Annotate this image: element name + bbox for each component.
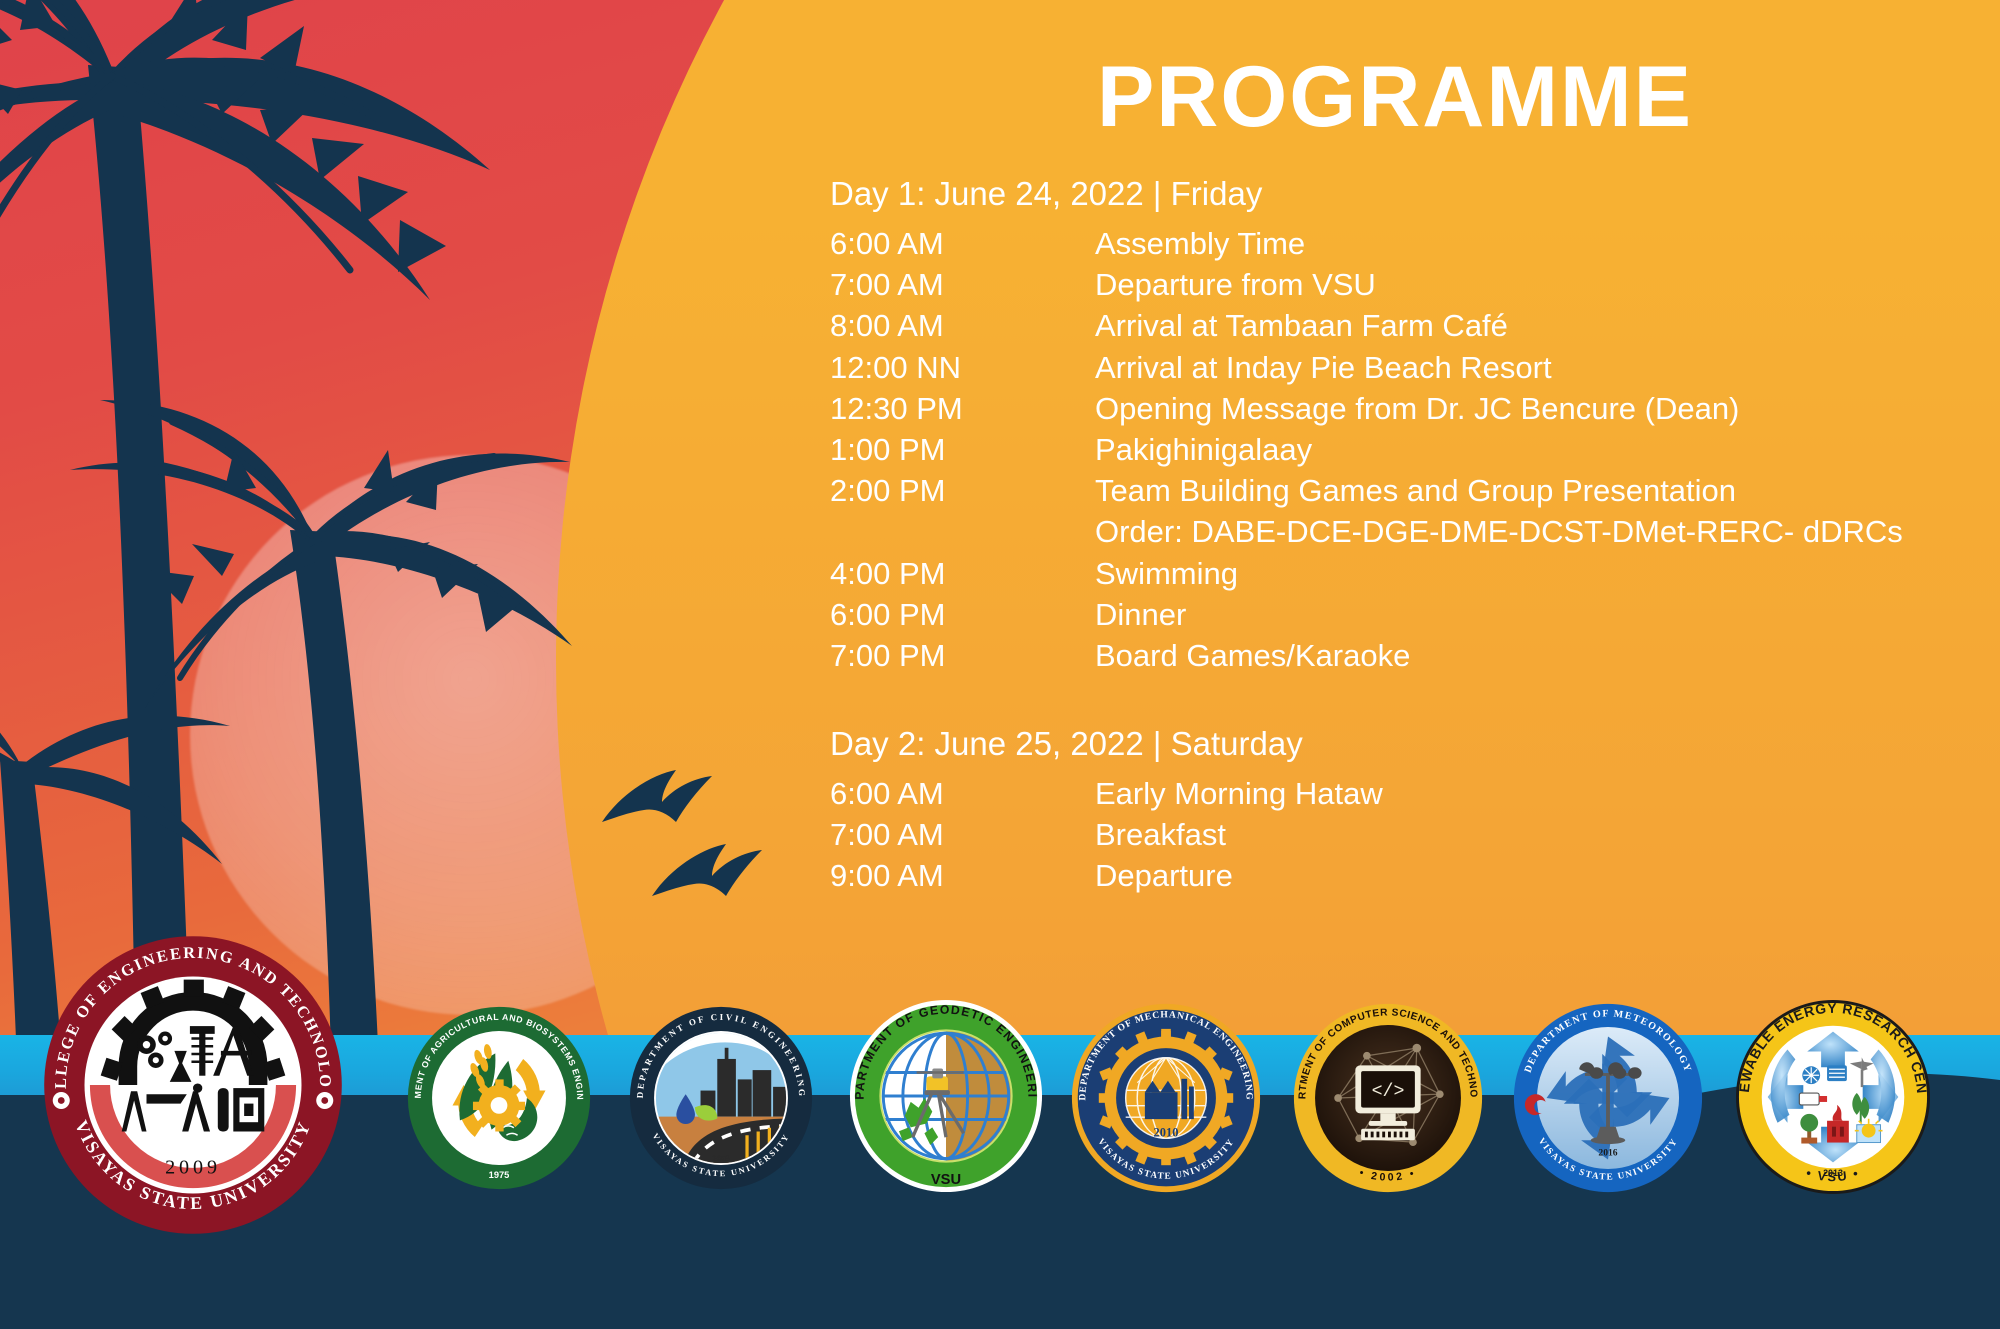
schedule-time: 12:00 NN (830, 347, 1095, 388)
schedule-activity: Dinner (1095, 594, 1186, 635)
logo-dcst: </> DEPARTMENT OF COMPUTER SCIENCE AND T… (1292, 1002, 1484, 1194)
schedule-row: 12:00 NN Arrival at Inday Pie Beach Reso… (830, 347, 1960, 388)
day-block-2: Day 2: June 25, 2022 | Saturday 6:00 AM … (830, 722, 1960, 896)
schedule-row: 12:30 PM Opening Message from Dr. JC Ben… (830, 388, 1960, 429)
logo-dme-year: 2010 (1154, 1125, 1179, 1139)
schedule-time: 1:00 PM (830, 429, 1095, 470)
schedule-row: 6:00 PM Dinner (830, 594, 1960, 635)
schedule-time: 2:00 PM (830, 470, 1095, 511)
logo-dmet-year: 2016 (1598, 1148, 1617, 1159)
schedule-row: 1:00 PM Pakighinigalaay (830, 429, 1960, 470)
schedule-row: 7:00 AM Departure from VSU (830, 264, 1960, 305)
bird-silhouettes (600, 770, 780, 910)
schedule-activity: Departure (1095, 855, 1233, 896)
schedule-time: 12:30 PM (830, 388, 1095, 429)
schedule-activity: Swimming (1095, 553, 1238, 594)
schedule-row-continuation: Order: DABE-DCE-DGE-DME-DCST-DMet-RERC- … (830, 511, 1960, 552)
palm-tree-silhouettes (0, 0, 860, 1090)
day-2-schedule: 6:00 AM Early Morning Hataw 7:00 AM Brea… (830, 773, 1960, 897)
schedule-activity: Opening Message from Dr. JC Bencure (Dea… (1095, 388, 1739, 429)
schedule-time: 9:00 AM (830, 855, 1095, 896)
logo-dge-bottom-text: VSU (931, 1172, 961, 1188)
logo-rerc: RENEWABLE ENERGY RESEARCH CENTER • VSU •… (1734, 998, 1932, 1196)
schedule-activity: Arrival at Inday Pie Beach Resort (1095, 347, 1552, 388)
schedule-activity: Pakighinigalaay (1095, 429, 1312, 470)
section-spacer (830, 676, 1960, 722)
logo-dcst-code-glyph: </> (1372, 1082, 1405, 1102)
schedule-time: 7:00 PM (830, 635, 1095, 676)
schedule-time: 6:00 PM (830, 594, 1095, 635)
schedule-row: 9:00 AM Departure (830, 855, 1960, 896)
schedule-activity: Board Games/Karaoke (1095, 635, 1410, 676)
schedule-time: 8:00 AM (830, 305, 1095, 346)
day-block-1: Day 1: June 24, 2022 | Friday 6:00 AM As… (830, 172, 1960, 676)
logo-rerc-year: 2013 (1823, 1168, 1843, 1178)
schedule-row: 7:00 AM Breakfast (830, 814, 1960, 855)
schedule-row: 8:00 AM Arrival at Tambaan Farm Café (830, 305, 1960, 346)
schedule-activity: Assembly Time (1095, 223, 1305, 264)
day-1-heading: Day 1: June 24, 2022 | Friday (830, 172, 1960, 217)
page-title: PROGRAMME (830, 52, 1960, 142)
schedule-time: 6:00 AM (830, 773, 1095, 814)
schedule-activity: Breakfast (1095, 814, 1226, 855)
logo-cet-year: 2009 (165, 1156, 221, 1178)
logo-dabe: DEPARTMENT OF AGRICULTURAL AND BIOSYSTEM… (406, 1005, 592, 1191)
logo-dce-year: 2009 (712, 1153, 730, 1163)
programme-poster: PROGRAMME Day 1: June 24, 2022 | Friday … (0, 0, 2000, 1329)
schedule-time: 7:00 AM (830, 264, 1095, 305)
schedule-time: 6:00 AM (830, 223, 1095, 264)
schedule-row: 7:00 PM Board Games/Karaoke (830, 635, 1960, 676)
schedule-row: 2:00 PM Team Building Games and Group Pr… (830, 470, 1960, 511)
schedule-row: 4:00 PM Swimming (830, 553, 1960, 594)
logo-dge: DEPARTMENT OF GEODETIC ENGINEERING VSU (848, 998, 1044, 1194)
schedule-activity: Early Morning Hataw (1095, 773, 1383, 814)
logo-dme: 2010 DEPARTMENT OF MECHANICAL ENGINEERIN… (1070, 1002, 1262, 1194)
day-2-heading: Day 2: June 25, 2022 | Saturday (830, 722, 1960, 767)
schedule-activity: Departure from VSU (1095, 264, 1376, 305)
schedule-time: 7:00 AM (830, 814, 1095, 855)
schedule-row: 6:00 AM Early Morning Hataw (830, 773, 1960, 814)
logo-dce: DEPARTMENT OF CIVIL ENGINEERING VISAYAS … (628, 1005, 814, 1191)
logo-cet: COLLEGE OF ENGINEERING AND TECHNOLOGY VI… (38, 930, 348, 1240)
programme-content: PROGRAMME Day 1: June 24, 2022 | Friday … (830, 52, 1960, 896)
department-logo-strip: COLLEGE OF ENGINEERING AND TECHNOLOGY VI… (0, 940, 2000, 1329)
logo-dmet: DEPARTMENT OF METEOROLOGY VISAYAS STATE … (1512, 1002, 1704, 1194)
day-1-schedule: 6:00 AM Assembly Time 7:00 AM Departure … (830, 223, 1960, 676)
schedule-time: 4:00 PM (830, 553, 1095, 594)
schedule-activity: Team Building Games and Group Presentati… (1095, 470, 1736, 511)
schedule-activity: Arrival at Tambaan Farm Café (1095, 305, 1508, 346)
schedule-row: 6:00 AM Assembly Time (830, 223, 1960, 264)
logo-dabe-year: 1975 (489, 1170, 510, 1180)
schedule-activity: Order: DABE-DCE-DGE-DME-DCST-DMet-RERC- … (1095, 511, 1903, 552)
